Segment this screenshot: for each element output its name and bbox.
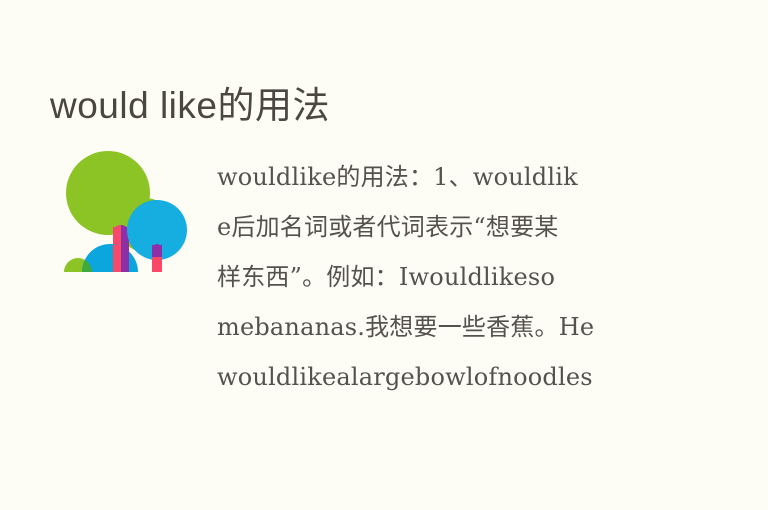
tree-trunk-right-pink-over (152, 257, 162, 272)
article-page: would like的用法 (0, 0, 768, 510)
body-line: mebananas.我想要一些香蕉。He (217, 302, 669, 352)
body-line: 样东西”。例如：Iwouldlikeso (217, 252, 669, 302)
article-body: wouldlike的用法：1、wouldlik e后加名词或者代词表示“想要某 … (217, 152, 669, 402)
tree-trunk-left-pink-over (113, 245, 121, 272)
body-line: e后加名词或者代词表示“想要某 (217, 202, 669, 252)
flat-trees-illustration (60, 145, 195, 277)
body-line: wouldlikealargebowlofnoodles (217, 352, 669, 402)
body-line: wouldlike的用法：1、wouldlik (217, 152, 669, 202)
tree-trunk-left-purple-over (121, 245, 129, 272)
page-title: would like的用法 (50, 85, 330, 128)
